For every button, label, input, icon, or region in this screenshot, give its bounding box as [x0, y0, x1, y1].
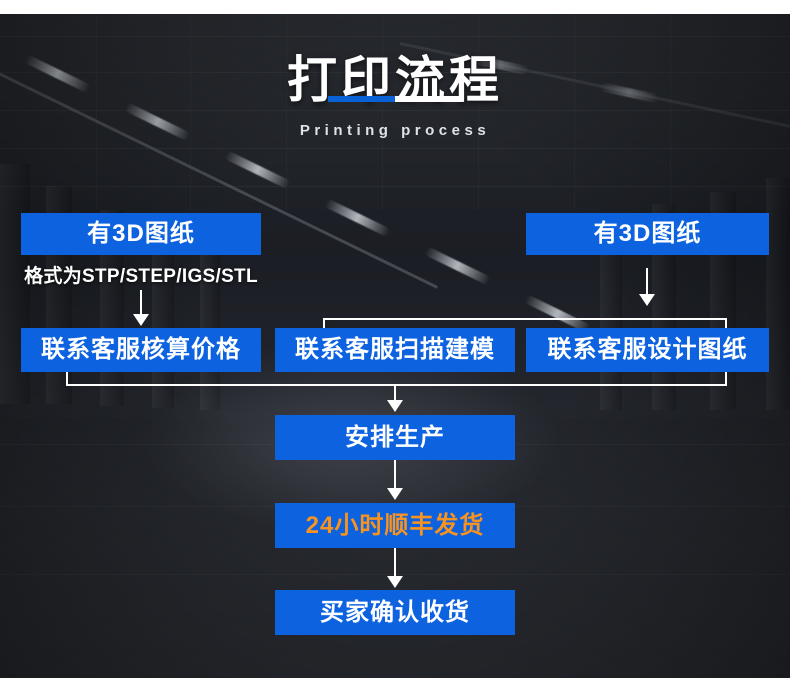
- flow-box-contact-service-design[interactable]: 联系客服设计图纸: [526, 328, 769, 372]
- connector-line: [394, 548, 396, 577]
- flow-box-24h-sf-shipping[interactable]: 24小时顺丰发货: [275, 503, 515, 548]
- arrow-down-icon: [639, 294, 655, 306]
- format-caption: 格式为STP/STEP/IGS/STL: [21, 261, 261, 288]
- flow-box-label: 安排生产: [345, 426, 445, 450]
- connector-bracket-bottom: [66, 384, 727, 386]
- page-subtitle: Printing process: [0, 122, 790, 139]
- connector-line: [394, 460, 396, 489]
- flow-box-label: 24小时顺丰发货: [306, 514, 485, 538]
- flow-box-contact-service-scan-model[interactable]: 联系客服扫描建模: [275, 328, 515, 372]
- flow-box-label: 有3D图纸: [87, 222, 195, 246]
- flow-box-label: 有3D图纸: [594, 222, 702, 246]
- rule-segment-white: [395, 96, 462, 102]
- flow-box-has-3d-drawing-left[interactable]: 有3D图纸: [21, 213, 261, 255]
- flow-box-contact-service-price[interactable]: 联系客服核算价格: [21, 328, 261, 372]
- arrow-down-icon: [387, 400, 403, 412]
- flow-box-label: 买家确认收货: [320, 601, 470, 625]
- rule-segment-blue: [328, 96, 395, 102]
- arrow-down-icon: [133, 314, 149, 326]
- flow-box-has-3d-drawing-right[interactable]: 有3D图纸: [526, 213, 769, 255]
- connector-bracket-top: [323, 318, 727, 320]
- printing-process-banner: 打印流程 Printing process 有3D图纸 有3D图纸 格式为STP…: [0, 0, 790, 696]
- flow-box-label: 联系客服核算价格: [41, 338, 241, 362]
- connector-line: [140, 290, 142, 316]
- flow-box-buyer-confirm-receipt[interactable]: 买家确认收货: [275, 590, 515, 635]
- flow-box-label: 联系客服设计图纸: [548, 338, 748, 362]
- arrow-down-icon: [387, 576, 403, 588]
- flow-box-label: 联系客服扫描建模: [295, 338, 495, 362]
- flow-box-arrange-production[interactable]: 安排生产: [275, 415, 515, 460]
- title-underline-rule: [328, 96, 462, 102]
- arrow-down-icon: [387, 488, 403, 500]
- connector-line: [646, 268, 648, 296]
